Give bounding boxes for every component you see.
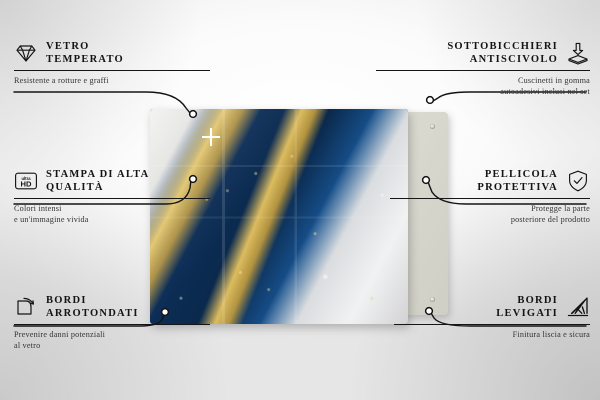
callout-title: BORDI ARROTONDATI bbox=[46, 294, 139, 320]
callout-rule bbox=[14, 324, 210, 325]
diamond-icon bbox=[14, 41, 38, 65]
callout-title: SOTTOBICCHIERI ANTISCIVOLO bbox=[447, 40, 558, 66]
callout-head: ultra HD STAMPA DI ALTA QUALITÀ bbox=[14, 168, 210, 194]
callout-subtitle-line2: posteriore del prodotto bbox=[390, 214, 590, 225]
callout-title: PELLICOLA PROTETTIVA bbox=[477, 168, 558, 194]
callout-title: BORDI LEVIGATI bbox=[496, 294, 558, 320]
callout-pellicola-protettiva: PELLICOLA PROTETTIVA Protegge la parte p… bbox=[390, 168, 590, 225]
callout-title: VETRO TEMPERATO bbox=[46, 40, 124, 66]
shield-check-icon bbox=[566, 169, 590, 193]
callout-subtitle-line2: e un'immagine vivida bbox=[14, 214, 210, 225]
infographic-canvas: VETRO TEMPERATO Resistente a rotture e g… bbox=[0, 0, 600, 400]
callout-subtitle: Colori intensi e un'immagine vivida bbox=[14, 203, 210, 225]
callout-rule bbox=[14, 198, 210, 199]
callout-head: BORDI LEVIGATI bbox=[394, 294, 590, 320]
callout-head: SOTTOBICCHIERI ANTISCIVOLO bbox=[376, 40, 590, 66]
callout-subtitle-line2: autoadesivi inclusi nel set bbox=[376, 86, 590, 97]
callout-subtitle: Prevenire danni potenziali al vetro bbox=[14, 329, 210, 351]
rounded-corner-icon bbox=[14, 295, 38, 319]
callout-bordi-arrotondati: BORDI ARROTONDATI Prevenire danni potenz… bbox=[14, 294, 210, 351]
pad-down-arrow-icon bbox=[566, 41, 590, 65]
polished-edge-icon bbox=[566, 295, 590, 319]
callout-rule bbox=[14, 70, 210, 71]
callout-head: VETRO TEMPERATO bbox=[14, 40, 210, 66]
svg-text:HD: HD bbox=[21, 180, 32, 189]
mounting-hole-top-icon bbox=[430, 124, 435, 129]
callout-subtitle-line2: al vetro bbox=[14, 340, 210, 351]
callout-head: BORDI ARROTONDATI bbox=[14, 294, 210, 320]
callout-subtitle-line1: Prevenire danni potenziali bbox=[14, 329, 210, 340]
callout-subtitle-line1: Colori intensi bbox=[14, 203, 210, 214]
callout-head: PELLICOLA PROTETTIVA bbox=[390, 168, 590, 194]
callout-rule bbox=[390, 198, 590, 199]
callout-subtitle: Cuscinetti in gomma autoadesivi inclusi … bbox=[376, 75, 590, 97]
callout-title: STAMPA DI ALTA QUALITÀ bbox=[46, 168, 149, 194]
callout-subtitle: Finitura liscia e sicura bbox=[394, 329, 590, 340]
callout-subtitle: Protegge la parte posteriore del prodott… bbox=[390, 203, 590, 225]
callout-stampa-di-alta-qualita: ultra HD STAMPA DI ALTA QUALITÀ Colori i… bbox=[14, 168, 210, 225]
callout-bordi-levigati: BORDI LEVIGATI Finitura liscia e sicura bbox=[394, 294, 590, 340]
callout-sottobicchieri-antiscivolo: SOTTOBICCHIERI ANTISCIVOLO Cuscinetti in… bbox=[376, 40, 590, 97]
callout-rule bbox=[376, 70, 590, 71]
ultra-hd-badge-icon: ultra HD bbox=[14, 169, 38, 193]
callout-rule bbox=[394, 324, 590, 325]
callout-vetro-temperato: VETRO TEMPERATO Resistente a rotture e g… bbox=[14, 40, 210, 86]
callout-subtitle-line1: Protegge la parte bbox=[390, 203, 590, 214]
callout-subtitle-line1: Cuscinetti in gomma bbox=[376, 75, 590, 86]
callout-subtitle: Resistente a rotture e graffi bbox=[14, 75, 210, 86]
